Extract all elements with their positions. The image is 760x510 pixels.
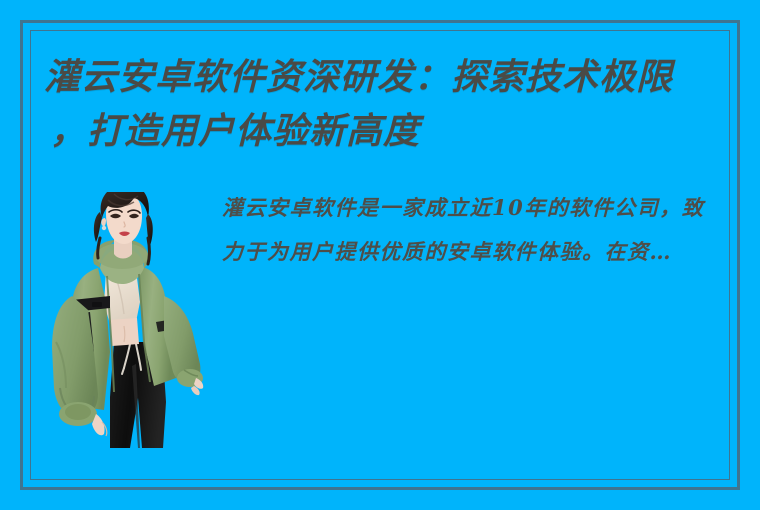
body-description: 灌云安卓软件是一家成立近10年的软件公司，致力于为用户提供优质的安卓软件体验。在… bbox=[222, 186, 722, 274]
woman-illustration bbox=[44, 192, 209, 458]
page-title-line-1: 灌云安卓软件资深研发：探索技术极限 bbox=[44, 50, 744, 104]
page-title: 灌云安卓软件资深研发：探索技术极限 ，打造用户体验新高度 bbox=[44, 50, 744, 158]
page-title-line-2: ，打造用户体验新高度 bbox=[44, 104, 744, 158]
poster-canvas: 灌云安卓软件资深研发：探索技术极限 ，打造用户体验新高度 灌云安卓软件是一家成立… bbox=[0, 0, 760, 510]
